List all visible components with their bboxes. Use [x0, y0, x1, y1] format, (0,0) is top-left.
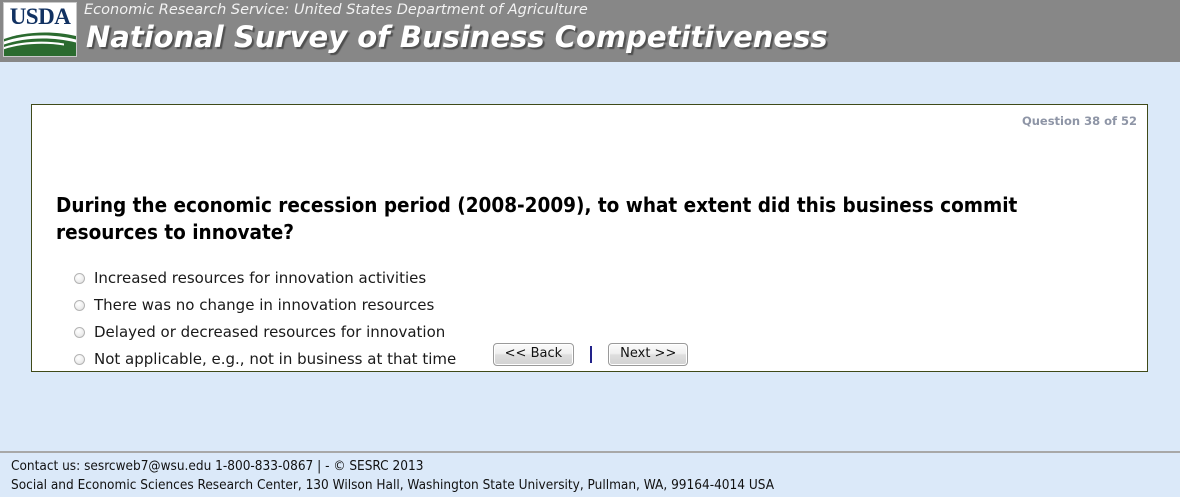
survey-title: National Survey of Business Competitiven…: [86, 20, 828, 54]
site-header: USDA Economic Research Service: United S…: [0, 0, 1180, 62]
site-footer: Contact us: sesrcweb7@wsu.edu 1-800-833-…: [0, 451, 1180, 497]
answer-option-2[interactable]: There was no change in innovation resour…: [74, 292, 974, 319]
answer-option-label: Delayed or decreased resources for innov…: [94, 324, 445, 341]
answer-option-label: Increased resources for innovation activ…: [94, 270, 426, 287]
next-button[interactable]: Next >>: [608, 343, 688, 366]
radio-icon[interactable]: [74, 300, 85, 311]
answer-option-3[interactable]: Delayed or decreased resources for innov…: [74, 319, 974, 346]
radio-icon[interactable]: [74, 273, 85, 284]
page-body: Question 38 of 52 During the economic re…: [0, 62, 1180, 451]
usda-wordmark: USDA: [4, 4, 76, 30]
usda-hill-icon: [4, 29, 76, 56]
question-prompt: During the economic recession period (20…: [56, 192, 1056, 246]
agency-subtitle: Economic Research Service: United States…: [84, 2, 588, 18]
question-panel: Question 38 of 52 During the economic re…: [31, 104, 1148, 372]
answer-option-label: There was no change in innovation resour…: [94, 297, 434, 314]
footer-contact-line: Contact us: sesrcweb7@wsu.edu 1-800-833-…: [11, 457, 423, 476]
question-counter: Question 38 of 52: [1022, 114, 1137, 128]
nav-separator: [590, 346, 592, 363]
answer-option-1[interactable]: Increased resources for innovation activ…: [74, 265, 974, 292]
radio-icon[interactable]: [74, 327, 85, 338]
back-button[interactable]: << Back: [493, 343, 574, 366]
navigation-row: << Back Next >>: [32, 343, 1149, 366]
usda-logo: USDA: [3, 2, 77, 57]
footer-address-line: Social and Economic Sciences Research Ce…: [11, 476, 774, 495]
